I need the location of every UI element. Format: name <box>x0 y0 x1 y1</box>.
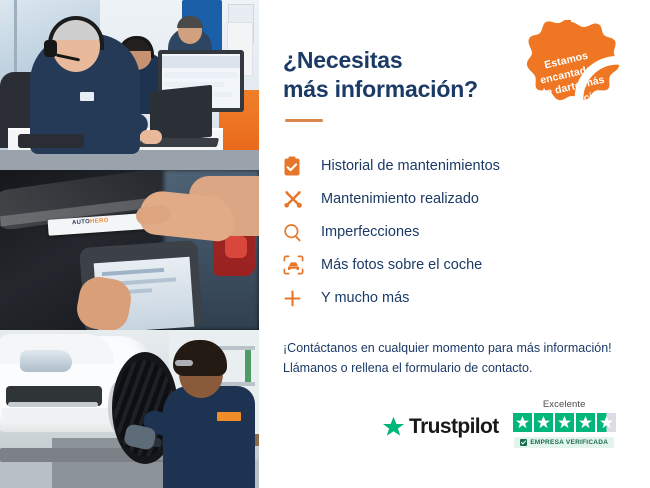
trustpilot-brand-name: Trustpilot <box>409 415 499 439</box>
content-panel: ¿Necesitas más información? Estamos enca… <box>259 0 650 488</box>
chrome-trim <box>8 402 98 407</box>
monitor-toolbar <box>162 56 240 68</box>
headset-earcup-icon <box>44 40 57 57</box>
trustpilot-widget[interactable]: Trustpilot Excelente <box>382 399 616 448</box>
paragraph-line-1: ¡Contáctanos en cualquier momento para m… <box>283 341 612 355</box>
trustpilot-star-icon <box>382 416 405 438</box>
monitor-row <box>164 72 238 78</box>
info-promo-card: AUTOHERO <box>0 0 650 488</box>
trustpilot-rating: Excelente <box>513 399 616 448</box>
tail-light-inner <box>225 236 247 258</box>
feature-label: Mantenimiento realizado <box>313 191 479 207</box>
employee-name-badge <box>80 92 94 101</box>
tools-icon <box>283 189 313 209</box>
verified-check-icon <box>520 439 527 446</box>
feature-item-imperfections: Imperfecciones <box>283 216 650 249</box>
mechanic-wheel-photo <box>0 330 259 488</box>
magnifier-icon <box>283 223 313 242</box>
feature-item-maintenance-history: Historial de mantenimientos <box>283 150 650 183</box>
vehicle-inspection-photo: AUTOHERO <box>0 170 259 330</box>
agent-hand <box>140 130 162 144</box>
car-headlight <box>20 350 72 372</box>
star-filled-icon <box>513 413 532 432</box>
feature-label: Y mucho más <box>313 290 409 306</box>
title-divider <box>285 119 323 122</box>
call-center-agents-photo <box>0 0 259 170</box>
feature-item-much-more: Y mucho más <box>283 282 650 315</box>
trustpilot-rating-label: Excelente <box>543 399 586 410</box>
clipboard-check-icon <box>283 156 313 177</box>
verified-badge-text: EMPRESA VERIFICADA <box>530 439 608 446</box>
star-filled-icon <box>534 413 553 432</box>
plus-icon <box>283 289 313 308</box>
feature-item-more-photos: Más fotos sobre el coche <box>283 249 650 282</box>
photo-column: AUTOHERO <box>0 0 259 488</box>
star-filled-icon <box>576 413 595 432</box>
feature-label: Historial de mantenimientos <box>313 158 500 174</box>
star-filled-icon <box>555 413 574 432</box>
verified-company-badge: EMPRESA VERIFICADA <box>514 437 614 448</box>
safety-glasses <box>175 360 193 366</box>
feature-item-maintenance-done: Mantenimiento realizado <box>283 183 650 216</box>
feature-label: Imperfecciones <box>313 224 419 240</box>
green-tool <box>245 350 251 382</box>
paragraph-line-2: Llámanos o rellena el formulario de cont… <box>283 361 532 375</box>
contact-paragraph: ¡Contáctanos en cualquier momento para m… <box>283 338 650 379</box>
star-half-icon <box>597 413 616 432</box>
headline-line-1: ¿Necesitas <box>283 47 402 73</box>
desk-tablet <box>18 134 84 148</box>
uniform-logo <box>217 412 241 421</box>
trustpilot-stars <box>513 413 616 432</box>
car-bumper <box>2 408 110 424</box>
car-scan-icon <box>283 255 313 275</box>
headline-line-2: más información? <box>283 76 478 102</box>
promo-badge: Estamos encantados de darte más informac… <box>516 20 626 130</box>
trustpilot-logo[interactable]: Trustpilot <box>382 415 499 448</box>
feature-list: Historial de mantenimientos M <box>283 150 650 315</box>
feature-label: Más fotos sobre el coche <box>313 257 482 273</box>
